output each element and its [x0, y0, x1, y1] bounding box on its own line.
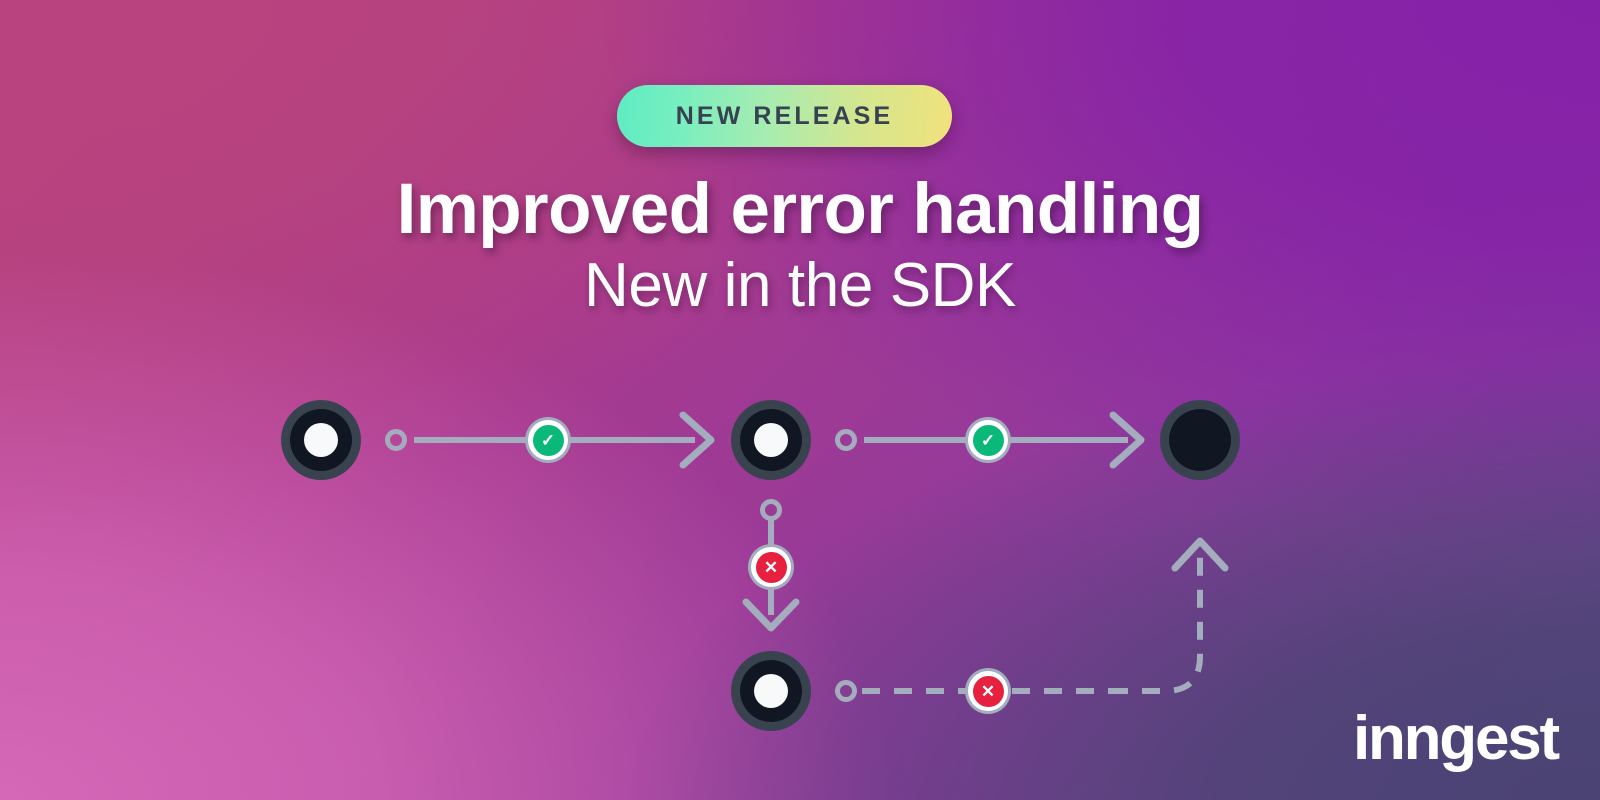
connector-dot-3: [760, 499, 782, 521]
node-core: [290, 409, 352, 471]
close-icon: ✕: [756, 552, 787, 583]
check-icon: ✓: [973, 425, 1004, 456]
node-indicator: [754, 423, 788, 457]
workflow-node-step-retry[interactable]: [731, 651, 811, 731]
arrowhead-up: [1175, 541, 1225, 568]
promo-banner: NEW RELEASE Improved error handling New …: [0, 0, 1600, 800]
edge-dot3-to-error1: [768, 519, 774, 547]
edge-error1-to-arrow: [768, 589, 774, 615]
workflow-node-step-start[interactable]: [281, 400, 361, 480]
dashed-return-path: [1110, 556, 1200, 691]
connector-dot-4: [835, 680, 857, 702]
connector-dot-1: [385, 429, 407, 451]
node-indicator: [754, 674, 788, 708]
node-indicator: [1183, 423, 1217, 457]
edge-second-to-check2: [864, 437, 969, 443]
edge-check1-to-second: [570, 437, 695, 443]
status-badge-success-2[interactable]: ✓: [965, 417, 1011, 463]
node-core: [740, 660, 802, 722]
close-icon: ✕: [973, 676, 1004, 707]
workflow-node-step-second[interactable]: [731, 400, 811, 480]
edge-check2-to-final: [1010, 437, 1128, 443]
status-badge-error-1[interactable]: ✕: [748, 544, 794, 590]
status-ring: ✕: [751, 547, 791, 587]
workflow-diagram: ✓ ✓ ✕ ✕: [0, 0, 1600, 800]
workflow-node-step-final[interactable]: [1160, 400, 1240, 480]
status-ring: ✓: [528, 420, 568, 460]
status-ring: ✕: [968, 671, 1008, 711]
check-icon: ✓: [533, 425, 564, 456]
status-ring: ✓: [968, 420, 1008, 460]
status-badge-error-2[interactable]: ✕: [965, 668, 1011, 714]
inngest-logo: inngest: [1353, 708, 1558, 770]
node-core: [740, 409, 802, 471]
node-core: [1169, 409, 1231, 471]
connector-dot-2: [835, 429, 857, 451]
edge-start-to-check1: [414, 437, 539, 443]
node-indicator: [304, 423, 338, 457]
edge-error2-to-return: [1012, 688, 1112, 694]
status-badge-success-1[interactable]: ✓: [525, 417, 571, 463]
edge-retry-to-error2: [862, 688, 966, 694]
